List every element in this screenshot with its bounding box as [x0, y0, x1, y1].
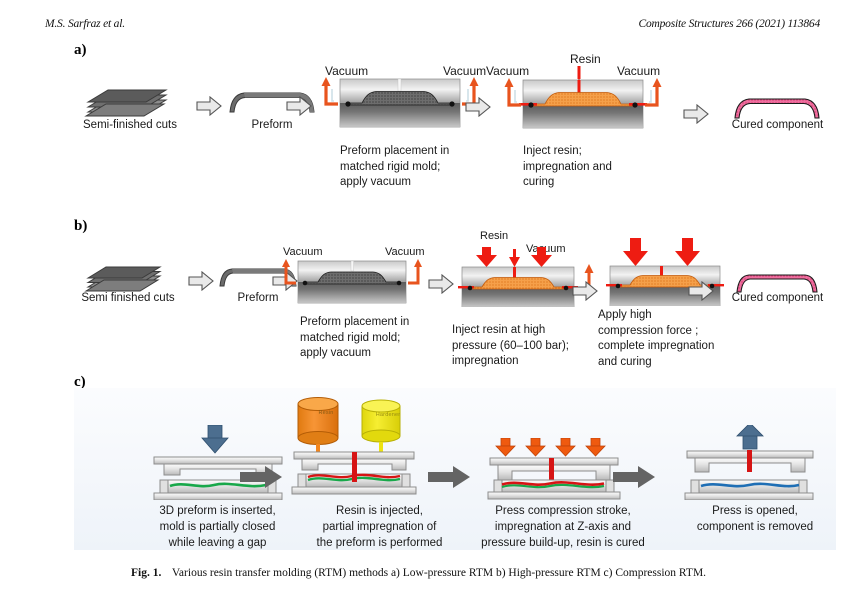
panel-c-step4-caption: Press is opened, component is removed	[670, 503, 840, 535]
panel-b-step4-label-resin: Resin	[480, 230, 508, 242]
panel-a-letter: a)	[74, 42, 87, 59]
panel-a-step5-caption: Cured component	[715, 118, 840, 134]
panel-b-step1-caption: Semi finished cuts	[68, 291, 188, 307]
panel-a-arrow-1	[196, 96, 222, 116]
panel-b-semi-finished-cuts-graphic	[82, 264, 166, 294]
panel-c-step3-caption: Press compression stroke, impregnation a…	[452, 503, 674, 551]
panel-a-resin-injection-graphic	[495, 66, 663, 130]
figure-page: M.S. Sarfraz et al. Composite Structures…	[0, 0, 862, 604]
running-head-authors: M.S. Sarfraz et al.	[45, 18, 125, 30]
panel-b-step3-caption: Preform placement in matched rigid mold;…	[300, 315, 465, 362]
panel-c-arrow-1	[240, 466, 282, 488]
panel-a-cured-component-graphic	[733, 96, 821, 120]
panel-a-semi-finished-cuts-graphic	[82, 88, 172, 120]
panel-a-step3-label-vacuum-right: Vacuum	[443, 64, 486, 78]
panel-a-arrow-3	[465, 97, 491, 117]
panel-a-arrow-4	[683, 104, 709, 124]
panel-c-step4-graphic	[665, 425, 830, 500]
panel-a-arrow-2	[286, 96, 312, 116]
panel-a-step3-caption: Preform placement in matched rigid mold;…	[340, 144, 510, 191]
figure-caption-text: Various resin transfer molding (RTM) met…	[172, 567, 706, 579]
panel-b-step3-label-vacuum-left: Vacuum	[283, 246, 323, 258]
panel-b-step6-caption: Cured component	[715, 291, 840, 307]
panel-b-step3-label-vacuum-right: Vacuum	[385, 246, 425, 258]
figure-caption: Fig. 1. Various resin transfer molding (…	[131, 567, 831, 579]
panel-a-step3-label-vacuum-left: Vacuum	[325, 64, 368, 78]
panel-a-step4-label-resin: Resin	[570, 52, 601, 66]
panel-b-arrow-5	[688, 281, 714, 301]
panel-a-mold-vacuum-graphic	[312, 77, 480, 129]
panel-c-arrow-2	[428, 466, 470, 488]
panel-a-step4-caption: Inject resin; impregnation and curing	[523, 144, 673, 191]
panel-b-step4-caption: Inject resin at high pressure (60–100 ba…	[452, 323, 612, 370]
panel-c-arrow-3	[613, 466, 655, 488]
panel-a-step1-caption: Semi-finished cuts	[70, 118, 190, 134]
panel-b-letter: b)	[74, 218, 87, 235]
panel-c-step1-graphic	[128, 425, 308, 500]
running-head-journal-ref: Composite Structures 266 (2021) 113864	[639, 18, 821, 30]
panel-b-arrow-1	[188, 271, 214, 291]
panel-b-step5-caption: Apply high compression force ; complete …	[598, 308, 773, 370]
panel-c-tank-hardener-label: Hardener	[363, 412, 413, 418]
panel-b-arrow-4	[572, 281, 598, 301]
panel-c-tank-resin-label: Resin	[300, 410, 352, 416]
figure-caption-label: Fig. 1.	[131, 567, 161, 579]
running-head: M.S. Sarfraz et al. Composite Structures…	[0, 18, 862, 36]
panel-b-mold-vacuum-graphic	[274, 259, 426, 305]
panel-a-step2-caption: Preform	[222, 118, 322, 134]
